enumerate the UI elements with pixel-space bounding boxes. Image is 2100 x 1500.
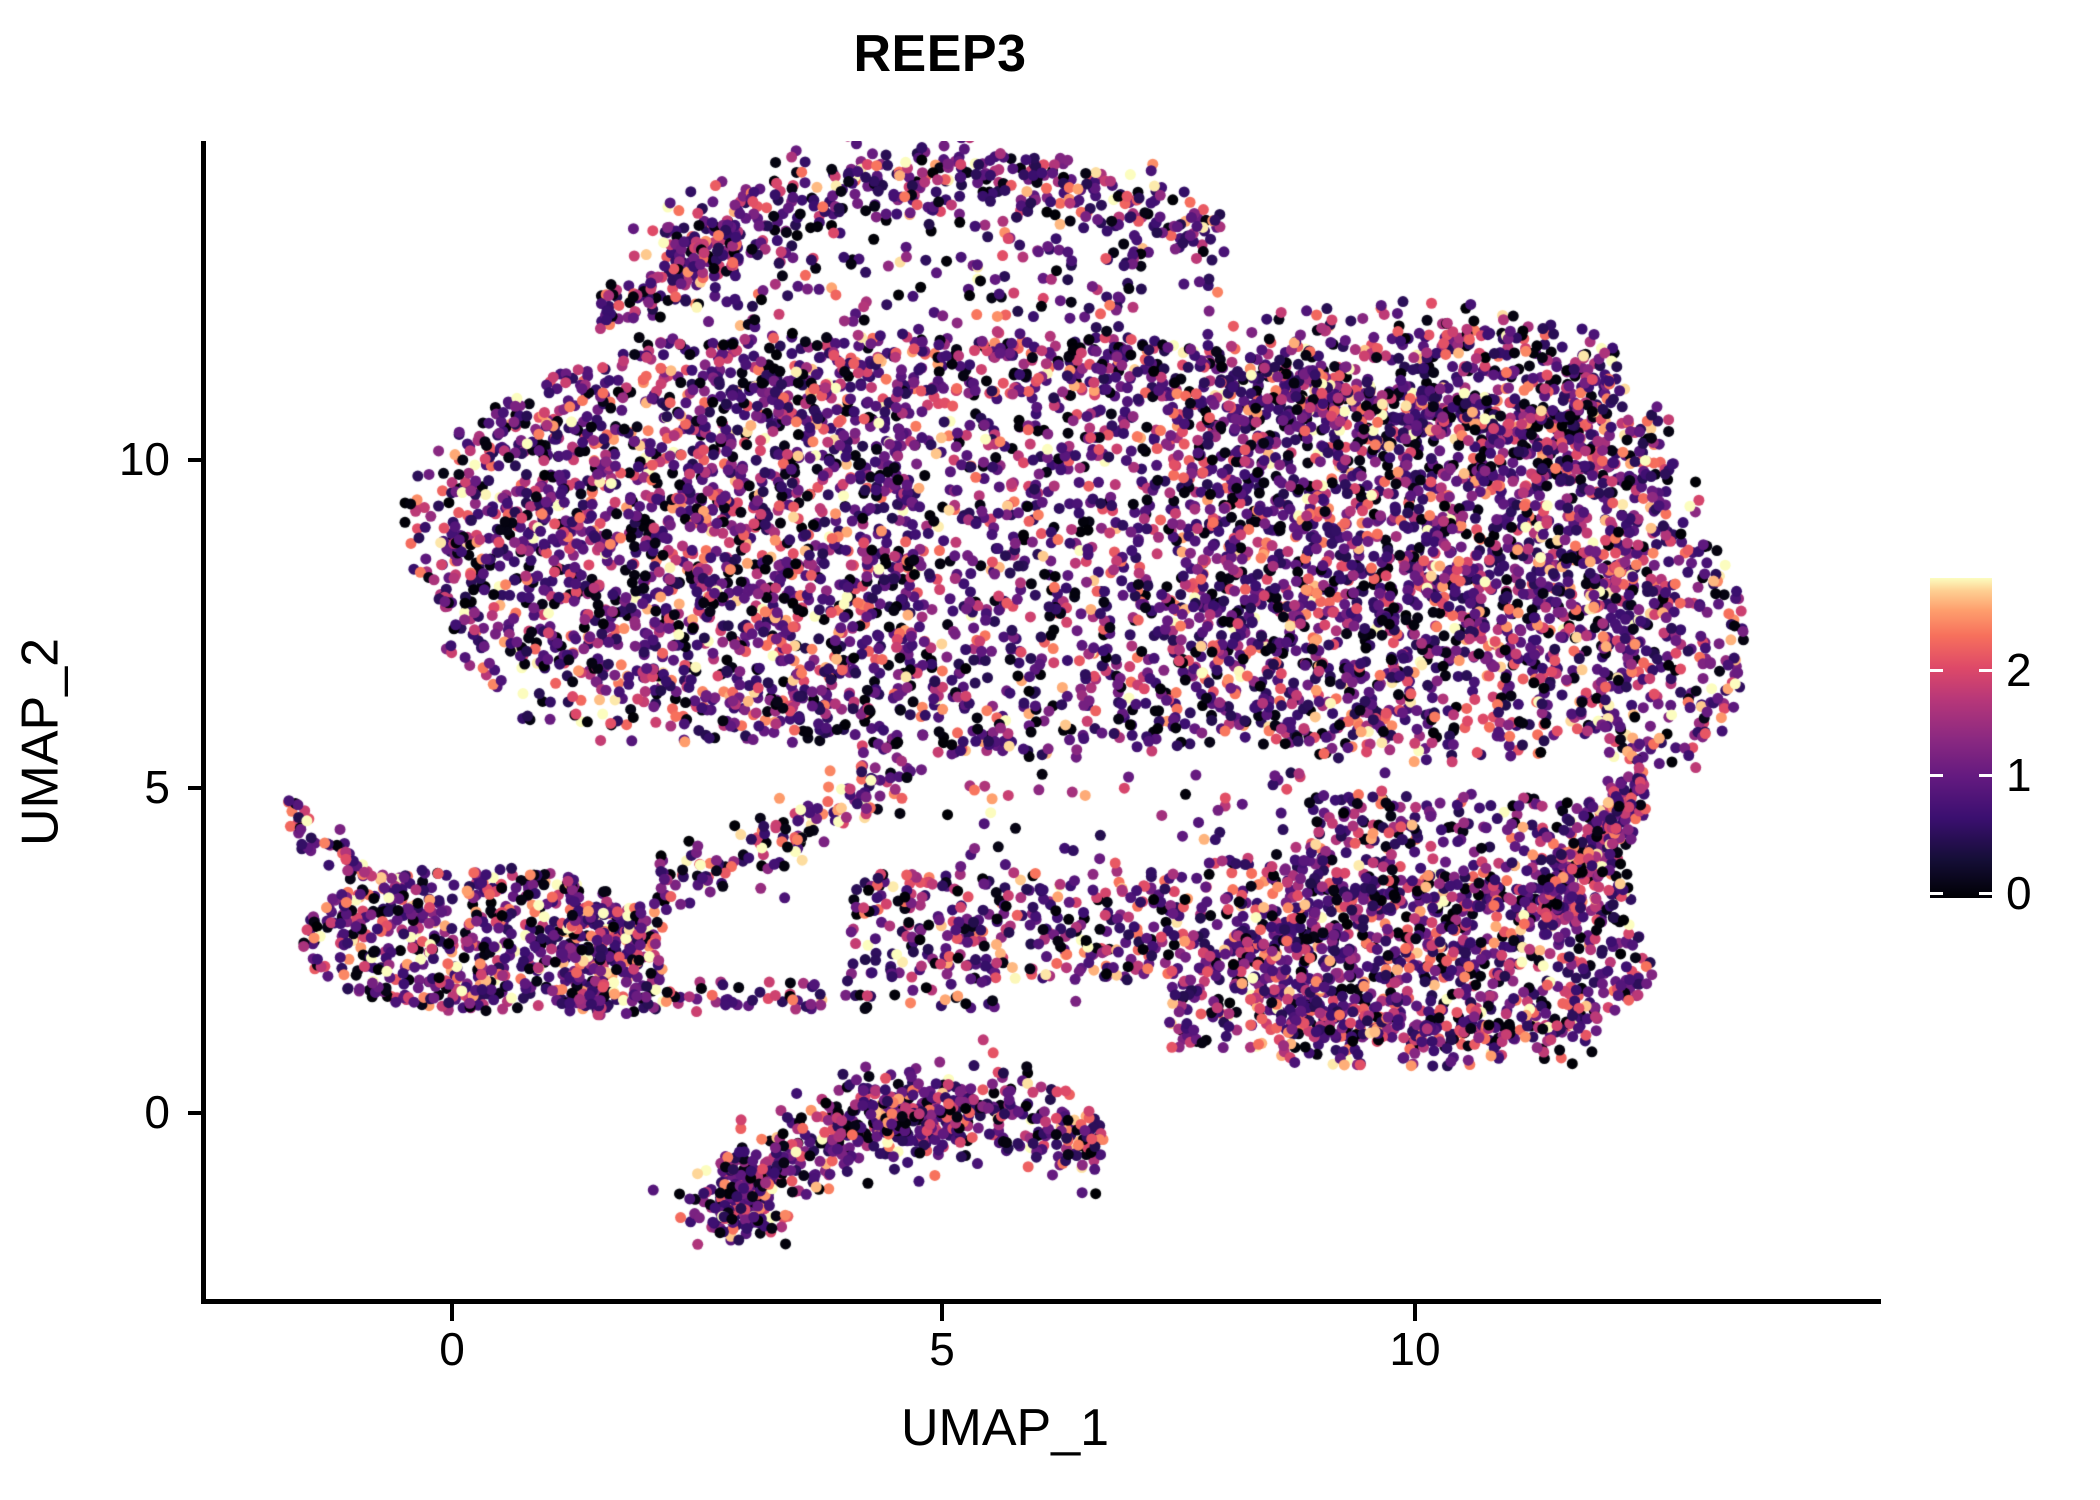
x-ticklabel-0: 0 [377, 1326, 527, 1372]
colorbar-gradient [1930, 578, 1992, 898]
x-ticklabel-10: 10 [1340, 1326, 1490, 1372]
x-axis-label: UMAP_1 [205, 1398, 1805, 1458]
x-tick-10 [1413, 1304, 1417, 1321]
colorbar-tick-2-left [1930, 669, 1943, 672]
x-ticklabel-5: 5 [867, 1326, 1017, 1372]
colorbar-tick-1-left [1930, 774, 1943, 777]
plot-panel [205, 141, 1805, 1302]
y-tick-0 [188, 1111, 205, 1115]
x-tick-0 [450, 1304, 454, 1321]
page-title: REEP3 [0, 24, 1880, 84]
colorbar-label-0: 0 [2006, 870, 2032, 916]
chart-root: REEP3 10 5 0 0 5 10 UMAP_1 UMAP_2 2 1 0 [0, 0, 2100, 1500]
colorbar-tick-0-right [1979, 892, 1992, 895]
x-tick-5 [940, 1304, 944, 1321]
colorbar-tick-0-left [1930, 892, 1943, 895]
colorbar-label-1: 1 [2006, 752, 2032, 798]
colorbar-label-2: 2 [2006, 647, 2032, 693]
y-tick-10 [188, 458, 205, 462]
scatter-points-layer [205, 141, 1805, 1302]
colorbar-tick-1-right [1979, 774, 1992, 777]
colorbar-legend: 2 1 0 [1930, 578, 1992, 898]
colorbar-tick-2-right [1979, 669, 1992, 672]
y-axis-label: UMAP_2 [11, 162, 71, 1323]
y-axis-line [201, 141, 206, 1304]
y-tick-5 [188, 786, 205, 790]
